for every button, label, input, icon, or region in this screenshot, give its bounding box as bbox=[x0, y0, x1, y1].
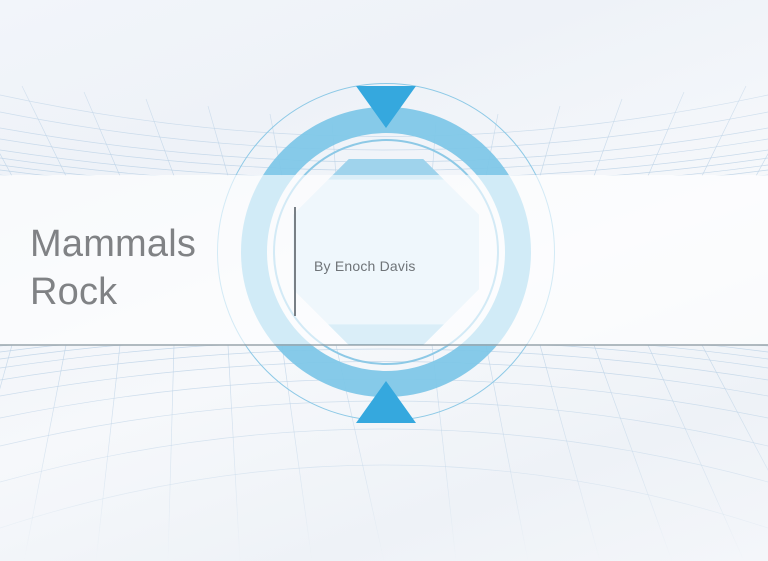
band-rule bbox=[0, 344, 768, 346]
inner-ring-icon bbox=[273, 139, 499, 365]
page-title: Mammals Rock bbox=[30, 220, 280, 316]
subtitle-author: By Enoch Davis bbox=[314, 258, 416, 274]
title-slide: Mammals Rock By Enoch Davis bbox=[0, 0, 768, 561]
vertical-divider bbox=[294, 207, 296, 316]
triangle-down-icon bbox=[356, 86, 416, 128]
triangle-up-icon bbox=[356, 381, 416, 423]
